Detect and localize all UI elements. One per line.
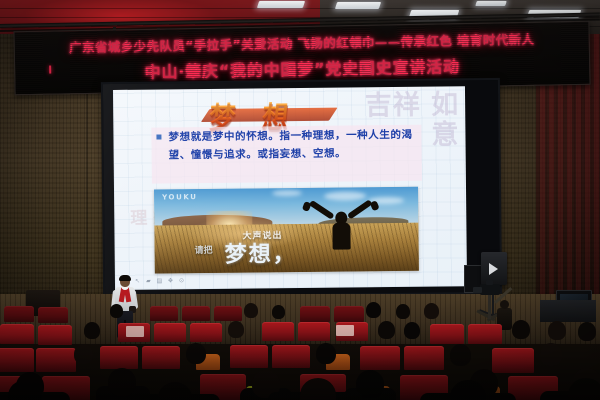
highlighter-icon[interactable]: ▰ <box>145 278 152 285</box>
embedded-video-thumbnail[interactable]: YOUKU 大声说出 请把 梦想， <box>154 187 419 274</box>
auditorium-seat <box>334 306 364 322</box>
pointer-icon[interactable]: ✥ <box>167 277 174 284</box>
auditorium-seat <box>154 323 186 342</box>
auditorium-seat <box>0 348 34 372</box>
ceiling-panel-light <box>335 2 381 9</box>
auditorium-seat <box>214 306 242 321</box>
auditorium-photo: 广东省城乡少先队员“手拉手”关爱活动 飞扬的红领巾——传承红色 培育时代新人 中… <box>0 0 600 400</box>
audience-head <box>578 322 596 341</box>
audience-head <box>548 321 566 340</box>
led-indicator-dot <box>49 66 51 74</box>
video-caption-pre: 请把 <box>195 243 213 256</box>
audience-head <box>158 382 192 400</box>
eraser-icon[interactable]: ▤ <box>156 277 163 284</box>
audience-head <box>424 303 439 319</box>
audience-head <box>272 305 285 319</box>
ceiling-panel-light <box>257 1 305 8</box>
auditorium-seat <box>100 346 138 369</box>
auditorium-seat <box>360 346 400 370</box>
video-caption-main: 梦想， <box>225 236 297 269</box>
bullet-square-icon <box>156 134 161 139</box>
auditorium-seat <box>298 322 330 341</box>
auditorium-seat <box>300 306 330 322</box>
projection-screen: 吉祥 如意 理 想 梦 想 梦想就是梦中的怀想。指一种理想，一种人生的渴望、憧憬… <box>103 80 500 296</box>
auditorium-seat <box>182 306 210 321</box>
youku-logo: YOUKU <box>162 193 198 201</box>
auditorium-seat <box>38 307 68 323</box>
auditorium-seat <box>190 323 222 342</box>
video-silhouette-figure <box>302 201 380 250</box>
audience-head <box>110 304 123 318</box>
audience-head <box>186 343 206 364</box>
audience-head <box>378 321 395 339</box>
auditorium-seat <box>468 324 502 344</box>
audience-head <box>244 303 258 318</box>
auditorium-seat <box>262 322 294 341</box>
slide-body-text: 梦想就是梦中的怀想。指一种理想，一种人生的渴望、憧憬与追求。或指妄想、空想。 <box>168 127 418 165</box>
auditorium-seat <box>272 345 310 368</box>
audience-head <box>108 368 136 396</box>
audience-head <box>396 304 410 319</box>
menu-icon[interactable]: ⊙ <box>178 277 185 284</box>
slide-body-textbox: 梦想就是梦中的怀想。指一种理想，一种人生的渴望、憧憬与追求。或指妄想、空想。 <box>151 125 422 184</box>
camera-body <box>480 284 500 295</box>
auditorium-seat <box>430 324 464 344</box>
auditorium-seat <box>492 348 534 373</box>
auditorium-seat <box>150 306 178 321</box>
auditorium-seat <box>404 346 444 370</box>
audience-area <box>0 300 600 400</box>
speaker-cone-icon <box>489 263 498 275</box>
audience-paper <box>126 326 144 337</box>
audience-paper <box>336 325 354 336</box>
ceiling-panel-light <box>475 1 507 6</box>
audience-head <box>316 343 336 364</box>
auditorium-seat <box>142 346 180 369</box>
auditorium-seat <box>230 345 268 368</box>
presentation-slide: 吉祥 如意 理 想 梦 想 梦想就是梦中的怀想。指一种理想，一种人生的渴望、憧憬… <box>113 86 467 290</box>
audience-head <box>512 320 530 339</box>
audience-head <box>404 322 420 339</box>
audience-head <box>228 321 244 338</box>
audience-head <box>366 302 381 318</box>
audience-head <box>84 322 100 339</box>
loudspeaker <box>481 252 507 285</box>
auditorium-seat <box>0 324 34 344</box>
led-banner-line-2: 中山·肇庆“我的中国梦”党史国史宣讲活动 <box>15 51 589 86</box>
audience-head <box>74 344 93 364</box>
camera-lens <box>473 287 482 293</box>
auditorium-seat <box>4 306 34 322</box>
auditorium-seat <box>36 348 76 372</box>
audience-head <box>450 344 471 366</box>
auditorium-seat <box>38 325 72 345</box>
audience-head <box>540 343 562 366</box>
